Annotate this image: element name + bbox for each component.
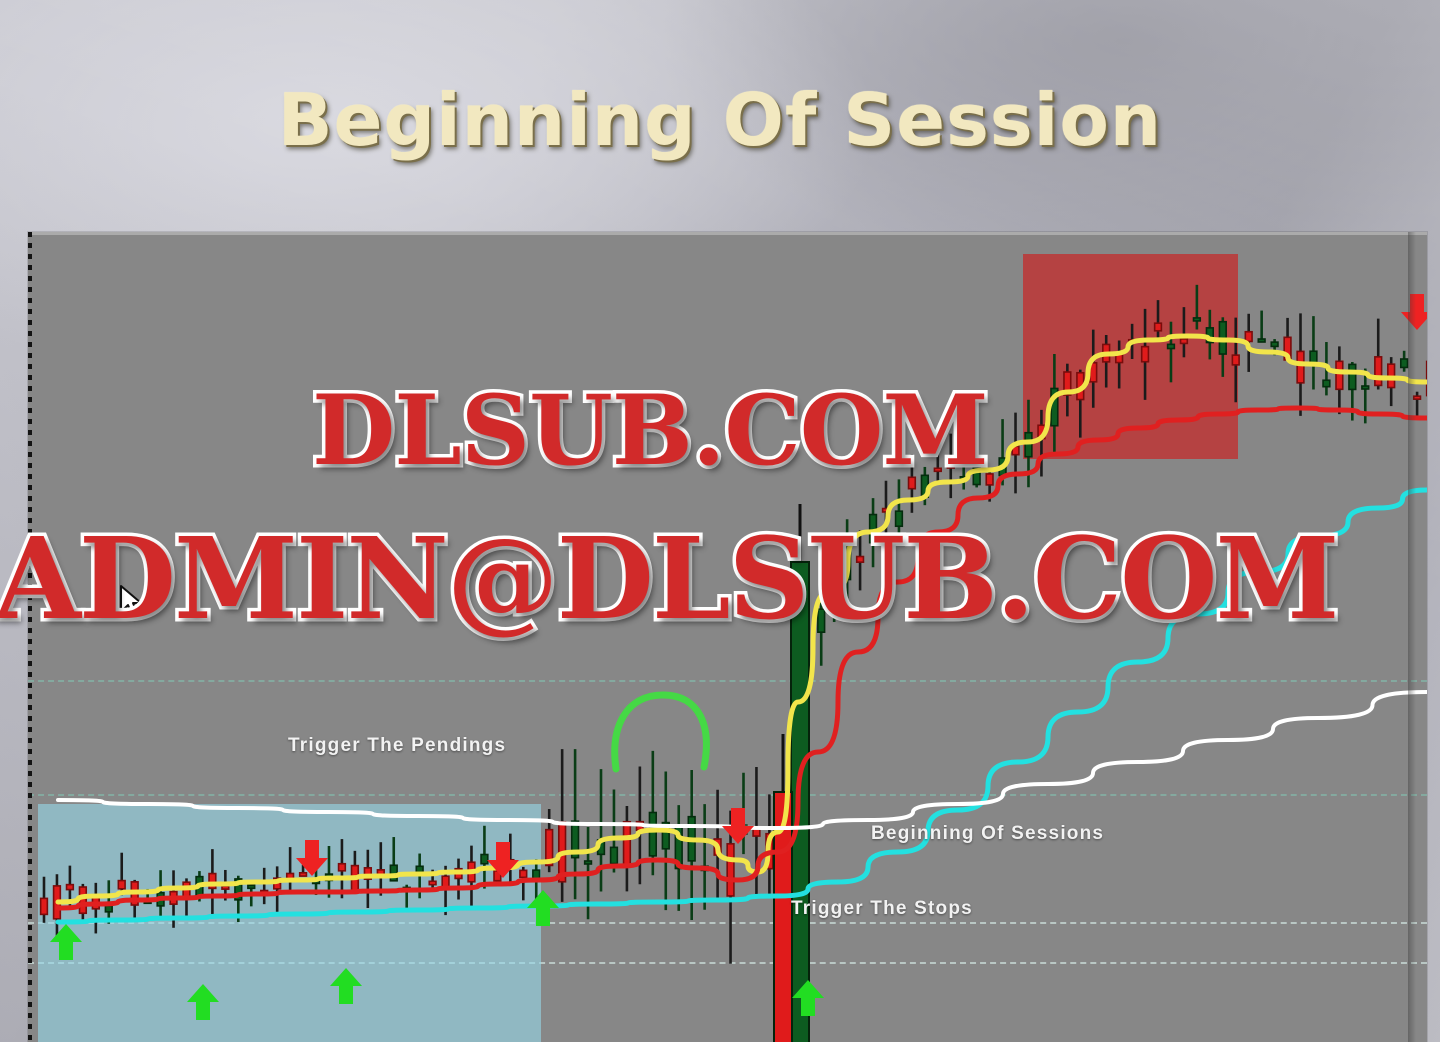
handdrawn-circle-annotation [608, 687, 718, 777]
buy-arrow-icon [792, 980, 824, 1016]
sell-arrow-icon [296, 840, 328, 876]
chart-right-edge [1408, 232, 1416, 1042]
annotation-trigger-the-pendings: Trigger The Pendings [288, 735, 506, 757]
annotation-beginning-of-sessions: Beginning Of Sessions [871, 823, 1104, 845]
placeholder-border-top [28, 232, 1427, 235]
buy-arrow-icon [527, 890, 559, 926]
watermark-site: DLSUB.COM [312, 374, 988, 487]
buy-arrow-icon [50, 924, 82, 960]
watermark-email: ADMIN@DLSUB.COM [0, 514, 1338, 645]
buy-arrow-icon [187, 984, 219, 1020]
sell-arrow-icon [722, 808, 754, 844]
annotation-trigger-the-stops: Trigger The Stops [791, 898, 973, 920]
buy-arrow-icon [330, 968, 362, 1004]
sell-arrow-icon [487, 842, 519, 878]
page-title: Beginning Of Session [0, 78, 1440, 162]
